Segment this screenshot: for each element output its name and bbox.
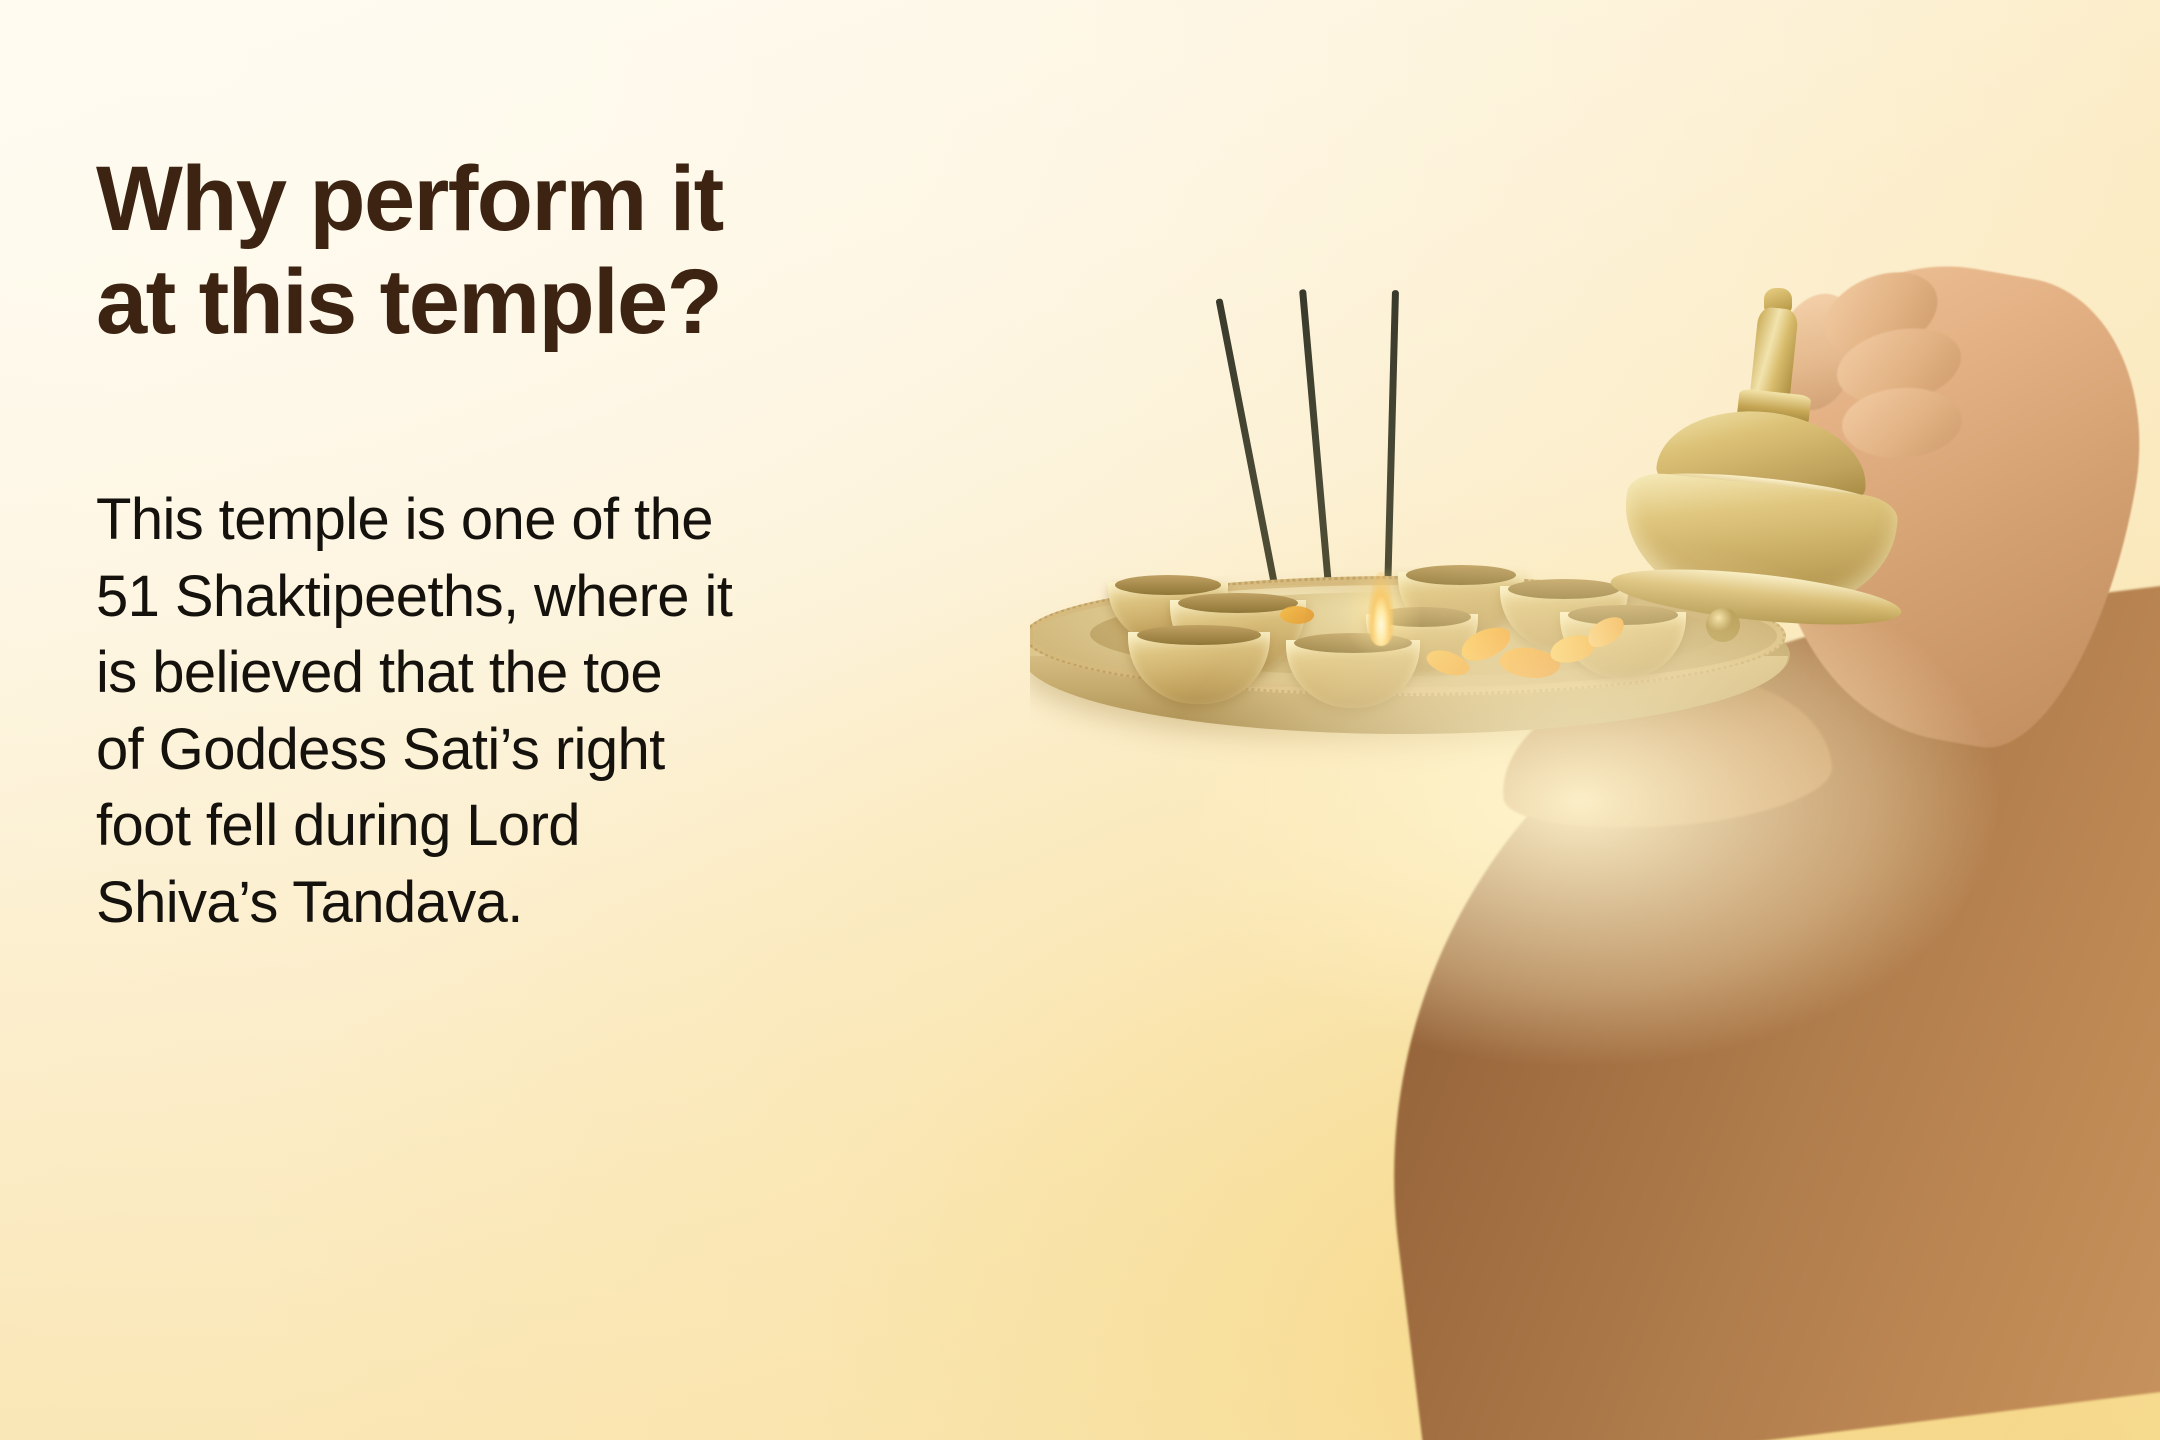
page-title: Why perform it at this temple?	[96, 148, 1036, 354]
puja-photo	[1030, 0, 2160, 1440]
slide-canvas: Why perform it at this temple? This temp…	[0, 0, 2160, 1440]
body-paragraph: This temple is one of the 51 Shaktipeeth…	[96, 482, 996, 941]
text-column: Why perform it at this temple? This temp…	[96, 148, 1036, 941]
brass-bell-icon	[1586, 288, 1886, 618]
